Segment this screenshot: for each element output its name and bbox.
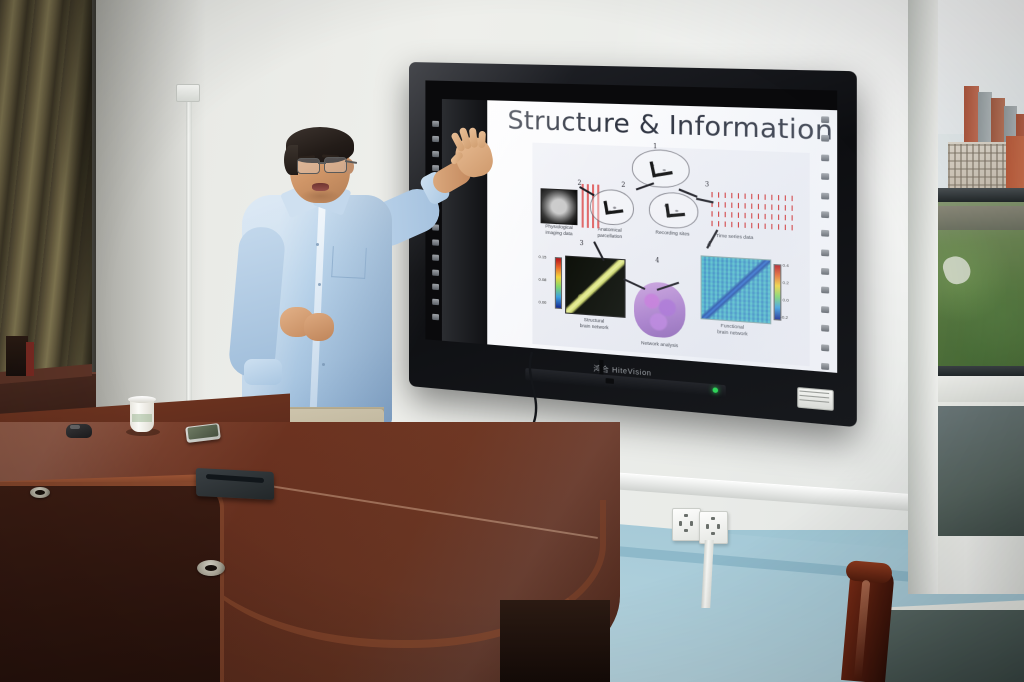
building-red-block	[1006, 136, 1024, 192]
shirt-pocket	[331, 246, 367, 279]
time-series-traces	[711, 190, 796, 233]
functional-colorbar-tick-1: 0.2	[783, 280, 789, 286]
table-inner-cutout	[0, 482, 224, 682]
functional-colorbar-tick-0: 0.4	[783, 262, 789, 268]
ir-sensor-icon	[821, 306, 829, 313]
presenter-hair-side	[284, 145, 298, 175]
figure-step-2: 2	[621, 182, 625, 190]
figure-step-3: 3	[705, 181, 709, 189]
table-leg	[500, 600, 610, 682]
ir-sensor-icon	[821, 230, 829, 237]
slide-figure: 1 Physiologicalimaging data 2 Anatomical…	[532, 143, 809, 367]
ir-sensor-column-right	[821, 116, 829, 370]
figure-step-4: 3	[580, 240, 584, 247]
cabinet-object	[6, 336, 28, 376]
shirt-button	[316, 243, 319, 246]
glasses-lens-right	[324, 157, 347, 173]
functional-connectivity-matrix	[701, 255, 772, 324]
finger-ring	[469, 127, 478, 148]
hillside-foliage	[932, 210, 1024, 372]
chair-seat[interactable]	[880, 610, 1024, 682]
label-structural-brain-network: Structuralbrain network	[565, 316, 623, 332]
mri-scan-image	[541, 188, 578, 225]
chair-crest-rail	[845, 560, 893, 584]
presenter-chin-shadow	[300, 189, 340, 203]
window	[908, 0, 1024, 594]
ir-sensor-icon	[821, 116, 829, 123]
conference-room-scene: Structure & Information 1 Physiologicali…	[0, 0, 1024, 682]
label-functional-brain-network: Functionalbrain network	[698, 321, 766, 338]
structural-colorbar-tick-0: 0.15	[539, 254, 547, 260]
window-jamb	[908, 0, 938, 594]
ir-sensor-icon	[821, 154, 829, 161]
figure-step-0: 1	[653, 143, 657, 151]
ir-sensor-icon	[821, 173, 829, 180]
finger-thumb	[449, 151, 464, 166]
presenter-left-cuff	[244, 359, 282, 385]
structural-colorbar	[555, 257, 562, 309]
cable-grommet[interactable]	[197, 560, 225, 576]
ir-sensor-icon	[821, 363, 829, 370]
cabinet-object-red	[26, 342, 34, 376]
structural-connectivity-matrix	[565, 256, 625, 318]
structural-colorbar-tick-2: 0.00	[539, 299, 547, 305]
power-led-indicator	[713, 387, 718, 393]
display-asset-sticker-text	[799, 390, 829, 405]
building-mid-rise-windows	[948, 144, 1006, 188]
wall-conduit-box	[176, 84, 200, 102]
label-physiological-imaging-data: Physiologicalimaging data	[534, 223, 583, 238]
window-mullion	[932, 188, 1024, 202]
shirt-button	[322, 363, 325, 366]
label-anatomical-parcellation: Anatomicalparcellation	[584, 226, 636, 241]
ir-receiver-icon	[606, 378, 614, 384]
functional-colorbar-tick-3: -0.2	[780, 314, 788, 320]
ir-sensor-icon	[821, 192, 829, 199]
ir-sensor-icon	[821, 344, 829, 351]
structural-colorbar-tick-1: 0.08	[539, 277, 547, 283]
parcellation-edges	[603, 199, 623, 215]
glasses-bridge	[318, 162, 326, 164]
wall-conduit	[186, 96, 192, 444]
paper-cup-print	[132, 414, 152, 422]
remote-control-highlight	[70, 425, 80, 429]
ir-sensor-icon	[821, 135, 829, 142]
paper-cup-rim	[128, 396, 156, 403]
figure-step-6: 4	[655, 257, 659, 265]
cable-tray[interactable]	[196, 468, 274, 500]
shirt-button	[318, 283, 321, 286]
finger-pinky	[478, 131, 486, 148]
presenter-mouth	[312, 183, 329, 191]
ir-sensor-icon	[432, 121, 439, 127]
glasses-lens-left	[297, 158, 320, 174]
functional-colorbar	[774, 264, 782, 321]
ir-sensor-icon	[821, 211, 829, 218]
functional-colorbar-tick-2: 0.0	[783, 297, 789, 303]
presenter-hand-right	[304, 313, 334, 341]
label-recording-sites: Recording sites	[645, 229, 701, 238]
cable-grommet[interactable]	[30, 487, 50, 498]
recording-edges	[665, 202, 685, 217]
ir-sensor-icon	[821, 325, 829, 332]
arrow-structural-to-brain	[623, 278, 645, 290]
ir-sensor-icon	[821, 287, 829, 294]
ir-sensor-icon	[821, 268, 829, 275]
brain-network-edges-top	[650, 159, 673, 178]
power-outlet-left[interactable]	[672, 508, 701, 541]
label-network-analysis: Network analysis	[630, 339, 690, 350]
ir-sensor-icon	[821, 249, 829, 256]
